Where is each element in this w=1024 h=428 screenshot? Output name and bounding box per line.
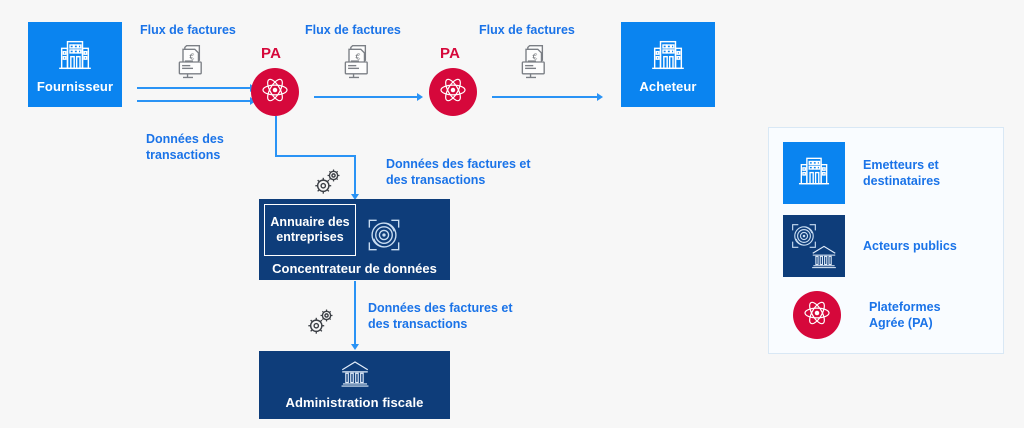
legend-item-label: Acteurs publics bbox=[863, 238, 957, 254]
arrowhead-hub-to-tax bbox=[351, 344, 359, 350]
office-building-icon bbox=[55, 35, 95, 80]
office-building-icon bbox=[648, 35, 688, 80]
radar-and-bank-icon bbox=[785, 217, 843, 275]
invoice-euro-monitor-icon: € bbox=[337, 42, 381, 87]
legend-item-acteurs-publics[interactable]: Acteurs publics bbox=[783, 215, 957, 277]
svg-text:€: € bbox=[189, 51, 194, 61]
legend-item-label: Plateformes Agrée (PA) bbox=[869, 299, 941, 332]
label-donnees-factures-transactions-2: Données des factures et des transactions bbox=[368, 301, 513, 332]
legend-swatch-blue bbox=[783, 142, 845, 204]
label-flux-de-factures-1: Flux de factures bbox=[140, 23, 236, 39]
node-pa2[interactable] bbox=[429, 68, 477, 116]
legend-item-emetteurs-destinataires[interactable]: Emetteurs et destinataires bbox=[783, 142, 940, 204]
arrow-pa1-to-pa2 bbox=[314, 96, 418, 98]
legend-item-plateformes-agree[interactable]: Plateformes Agrée (PA) bbox=[793, 291, 941, 339]
arrow-pa1-to-hub-seg3 bbox=[354, 155, 356, 197]
arrow-hub-to-tax bbox=[354, 281, 356, 347]
legend-panel: Emetteurs et destinataires bbox=[768, 127, 1004, 354]
legend-item-label: Emetteurs et destinataires bbox=[863, 157, 940, 190]
invoice-euro-monitor-icon: € bbox=[171, 42, 215, 87]
label-flux-de-factures-2: Flux de factures bbox=[305, 23, 401, 39]
government-bank-icon bbox=[338, 359, 372, 394]
gears-icon bbox=[312, 168, 342, 201]
hub-concentrateur-label: Concentrateur de données bbox=[259, 261, 450, 276]
label-flux-de-factures-3: Flux de factures bbox=[479, 23, 575, 39]
atom-icon bbox=[802, 298, 832, 333]
label-donnees-des-transactions: Données des transactions bbox=[146, 132, 224, 163]
svg-text:€: € bbox=[355, 51, 360, 61]
label-donnees-factures-transactions-1: Données des factures et des transactions bbox=[386, 157, 531, 188]
pa1-tag: PA bbox=[261, 45, 281, 62]
invoice-euro-monitor-icon: € bbox=[514, 42, 558, 87]
svg-text:€: € bbox=[532, 51, 537, 61]
node-pa1[interactable] bbox=[251, 68, 299, 116]
arrowhead-pa1-to-pa2 bbox=[417, 93, 423, 101]
gears-icon bbox=[305, 308, 335, 341]
atom-icon bbox=[438, 75, 468, 110]
arrow-pa1-to-hub-seg1 bbox=[275, 116, 277, 157]
radar-target-icon bbox=[362, 213, 406, 262]
subbox-annuaire-label: Annuaire des entreprises bbox=[265, 215, 355, 245]
pa2-tag: PA bbox=[440, 45, 460, 62]
office-building-icon bbox=[795, 152, 833, 195]
node-fournisseur[interactable]: Fournisseur bbox=[28, 22, 122, 107]
legend-swatch-red bbox=[793, 291, 841, 339]
node-administration-fiscale-label: Administration fiscale bbox=[285, 396, 423, 411]
node-data-hub[interactable]: Annuaire des entreprises Concentrateur d… bbox=[259, 199, 450, 280]
legend-swatch-navy bbox=[783, 215, 845, 277]
node-acheteur-label: Acheteur bbox=[639, 80, 696, 95]
node-fournisseur-label: Fournisseur bbox=[37, 80, 113, 95]
arrow-supplier-to-pa1-upper bbox=[137, 87, 251, 89]
arrow-supplier-to-pa1-lower bbox=[137, 100, 251, 102]
node-acheteur[interactable]: Acheteur bbox=[621, 22, 715, 107]
arrowhead-pa2-to-buyer bbox=[597, 93, 603, 101]
atom-icon bbox=[260, 75, 290, 110]
subbox-annuaire-des-entreprises[interactable]: Annuaire des entreprises bbox=[264, 204, 356, 256]
diagram-canvas: Fournisseur Acheteur PA bbox=[0, 0, 1024, 428]
node-administration-fiscale[interactable]: Administration fiscale bbox=[259, 351, 450, 419]
arrow-pa1-to-hub-seg2 bbox=[275, 155, 356, 157]
arrow-pa2-to-buyer bbox=[492, 96, 598, 98]
